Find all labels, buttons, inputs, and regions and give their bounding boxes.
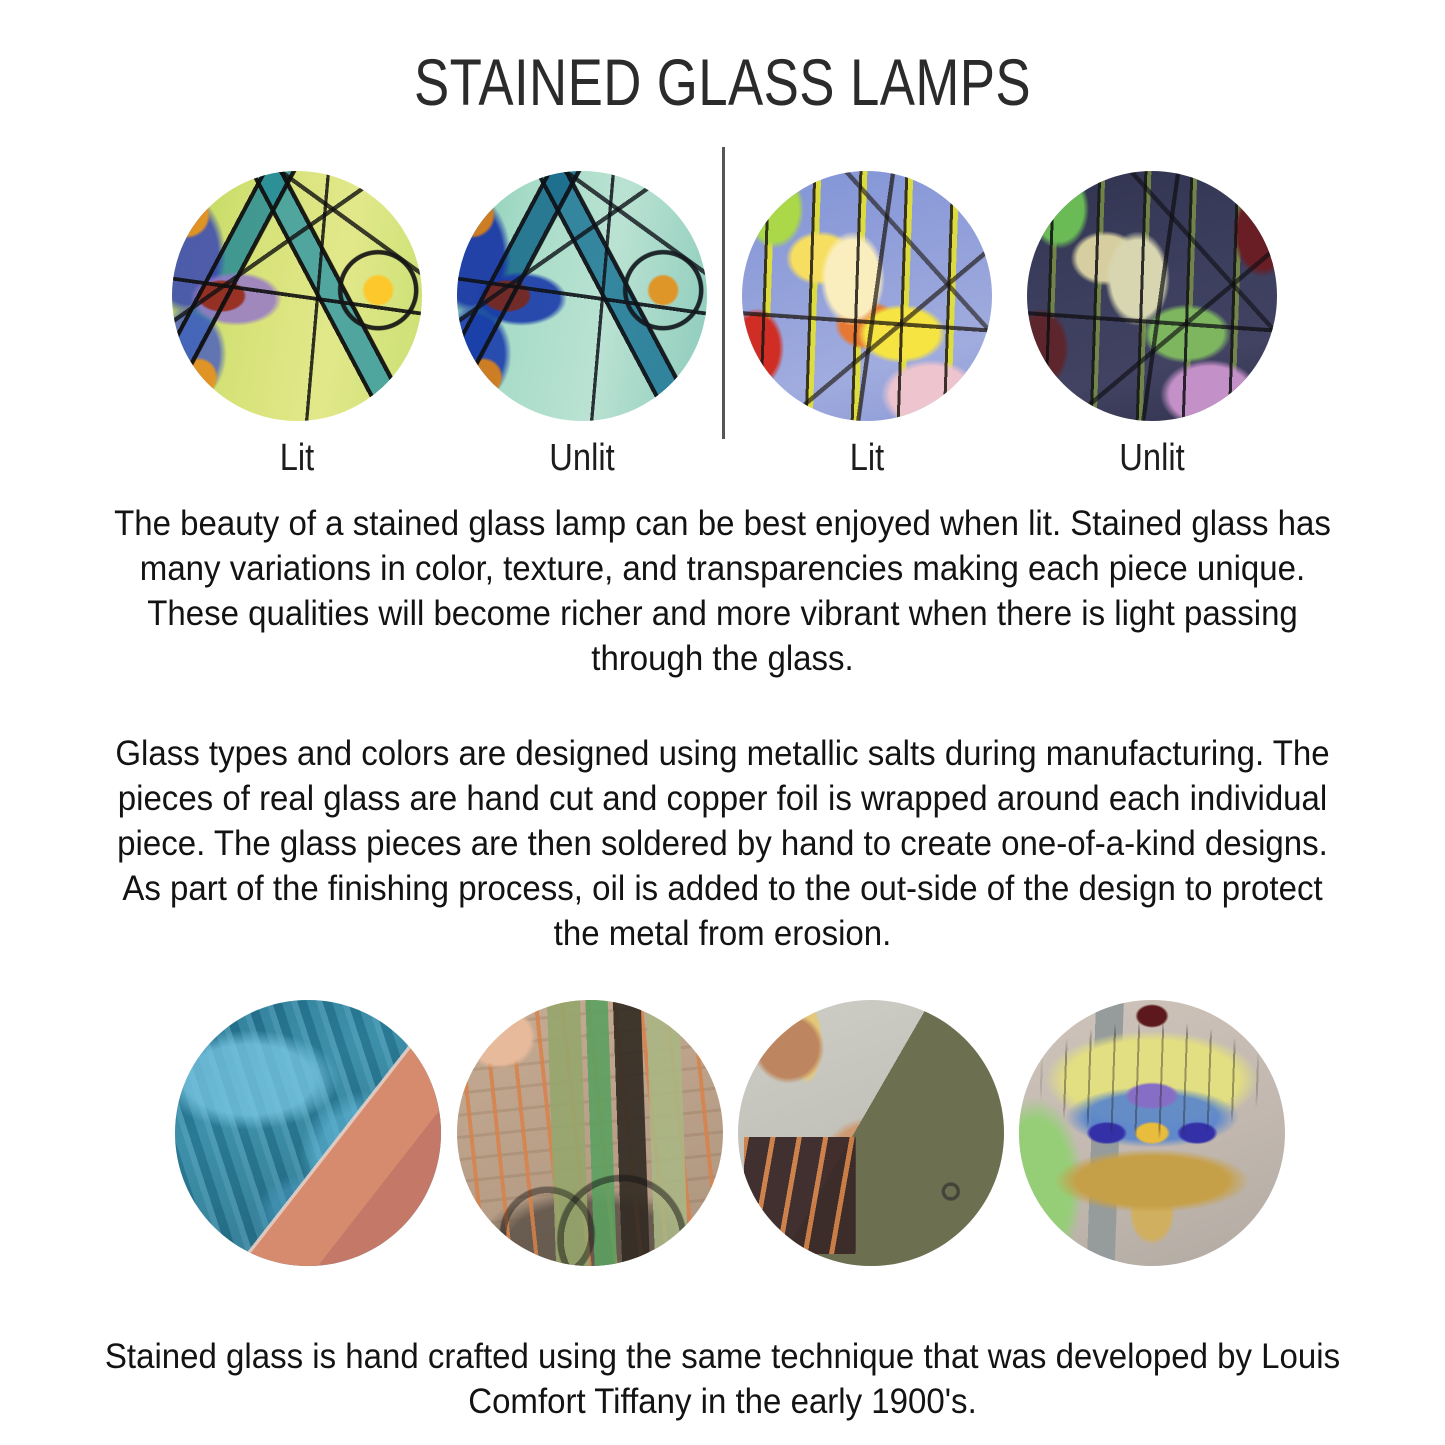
process-step-copper-foil bbox=[457, 1000, 723, 1266]
tiffany-heritage-paragraph: Stained glass is hand crafted using the … bbox=[97, 1334, 1348, 1424]
stained-glass-art-unlit-b bbox=[1027, 171, 1277, 421]
finished-tiffany-lamp-photo bbox=[1019, 1000, 1285, 1266]
process-paragraph: Glass types and colors are designed usin… bbox=[97, 731, 1348, 956]
swatch-unlit-lamp-b bbox=[1027, 171, 1277, 421]
comparison-divider bbox=[722, 147, 725, 439]
process-step-glass-sheet bbox=[175, 1000, 441, 1266]
swatch-label-lit-a: Lit bbox=[190, 437, 405, 480]
swatch-lit-lamp-b bbox=[742, 171, 992, 421]
swatch-lit-lamp-a bbox=[172, 171, 422, 421]
stained-glass-art-lit-a bbox=[172, 171, 422, 421]
stained-glass-art-lit-b bbox=[742, 171, 992, 421]
swatch-label-unlit-a: Unlit bbox=[475, 437, 690, 480]
copper-foil-pieces-photo bbox=[457, 1000, 723, 1266]
stained-glass-art-unlit-a bbox=[457, 171, 707, 421]
hand-soldering-photo bbox=[738, 1000, 1004, 1266]
poster-page: STAINED GLASS LAMPS Lit Unlit Lit Unlit … bbox=[0, 0, 1445, 1445]
art-glass-sheet-photo bbox=[175, 1000, 441, 1266]
page-title: STAINED GLASS LAMPS bbox=[145, 44, 1301, 120]
comparison-circle-row bbox=[0, 171, 1445, 423]
process-step-soldering bbox=[738, 1000, 1004, 1266]
swatch-unlit-lamp-a bbox=[457, 171, 707, 421]
process-step-finished-lamp bbox=[1019, 1000, 1285, 1266]
intro-paragraph: The beauty of a stained glass lamp can b… bbox=[97, 501, 1348, 681]
swatch-label-unlit-b: Unlit bbox=[1045, 437, 1260, 480]
swatch-label-lit-b: Lit bbox=[760, 437, 975, 480]
swatch-label-row: Lit Unlit Lit Unlit bbox=[0, 437, 1445, 483]
process-photo-row bbox=[0, 1000, 1445, 1266]
